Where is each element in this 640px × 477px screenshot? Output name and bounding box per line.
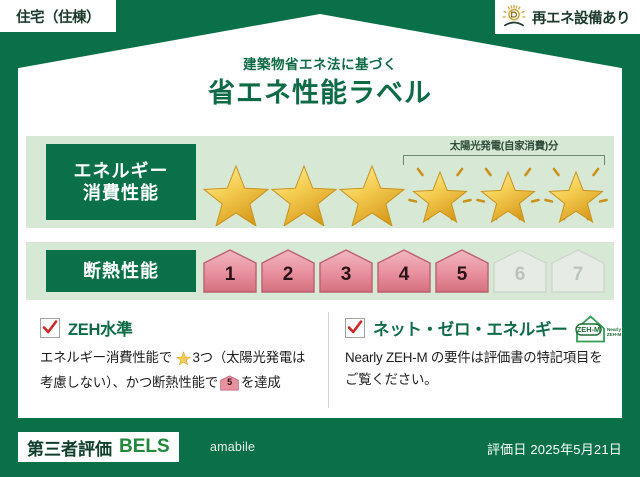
net-zero-energy-description: Nearly ZEH-M の要件は評価書の特記項目をご覧ください。	[345, 347, 604, 390]
net-zero-energy-title: ネット・ゼロ・エネルギー	[373, 316, 567, 340]
energy-star-plain	[202, 156, 270, 226]
energy-star-solar	[406, 156, 474, 226]
renewable-equipment-badge: 再エネ設備あり	[495, 0, 640, 34]
energy-star-solar	[542, 156, 610, 226]
energy-performance-label: 住宅（住棟） 再エネ設備あり	[0, 0, 640, 477]
insulation-level-badge: 4	[376, 248, 432, 294]
insulation-level-number: 1	[202, 265, 258, 284]
zeh-desc-part1: エネルギー消費性能で	[40, 350, 172, 365]
zeh-desc-part3: を達成	[241, 375, 281, 390]
page-title: 省エネ性能ラベル	[18, 80, 622, 107]
evaluation-date: 評価日 2025年5月21日	[487, 439, 622, 458]
insulation-label: 断熱性能	[83, 260, 159, 283]
zeh-section: ZEH水準 エネルギー消費性能で 3つ（太陽光発電は考慮しない）、かつ断熱性能で…	[26, 312, 614, 408]
bels-jp-label: 第三者評価	[27, 435, 112, 460]
insulation-performance-label-box: 断熱性能	[46, 250, 196, 292]
energy-rating-body: 太陽光発電(自家消費)分	[196, 136, 614, 228]
energy-star-rating	[202, 156, 610, 226]
zeh-standard-title: ZEH水準	[68, 316, 133, 340]
insulation-level-number: 2	[260, 265, 316, 284]
svg-text:ZEH-M: ZEH-M	[577, 325, 600, 334]
inline-insulation-badge-value: 5	[220, 378, 239, 387]
property-name: amabile	[210, 440, 255, 454]
net-zero-energy-checkbox[interactable]	[345, 318, 365, 338]
zeh-standard-block: ZEH水準 エネルギー消費性能で 3つ（太陽光発電は考慮しない）、かつ断熱性能で…	[26, 312, 328, 408]
building-type-label: 住宅（住棟）	[16, 6, 100, 27]
insulation-level-badge: 1	[202, 248, 258, 294]
insulation-rating-body: 1 2 3	[196, 242, 614, 300]
energy-performance-label-box: エネルギー 消費性能	[46, 144, 196, 220]
net-zero-energy-header: ネット・ゼロ・エネルギー ZEH-M Nearly ZEH-M	[345, 316, 604, 340]
insulation-level-badge: 7	[550, 248, 606, 294]
insulation-level-number: 6	[492, 265, 548, 284]
insulation-level-badge: 5	[434, 248, 490, 294]
sun-solar-icon	[501, 4, 527, 30]
inline-star-icon	[173, 353, 192, 368]
insulation-level-scale: 1 2 3	[202, 248, 606, 294]
insulation-level-number: 3	[318, 265, 374, 284]
zeh-standard-checkbox[interactable]	[40, 318, 60, 338]
insulation-level-badge: 2	[260, 248, 316, 294]
net-zero-energy-block: ネット・ゼロ・エネルギー ZEH-M Nearly ZEH-M Nearly Z…	[328, 312, 614, 408]
label-card: 建築物省エネ法に基づく 省エネ性能ラベル エネルギー 消費性能 太陽光発電(自家…	[18, 14, 622, 418]
zeh-m-logo-icon: ZEH-M Nearly ZEH-M	[573, 312, 625, 344]
insulation-level-number: 4	[376, 265, 432, 284]
bels-certification-badge: 第三者評価 BELS	[18, 432, 179, 462]
insulation-level-badge: 3	[318, 248, 374, 294]
footer-band: 第三者評価 BELS amabile 評価日 2025年5月21日	[0, 418, 640, 477]
solar-bracket-label: 太陽光発電(自家消費)分	[401, 138, 607, 153]
zeh-standard-header: ZEH水準	[40, 316, 318, 340]
energy-star-plain	[270, 156, 338, 226]
building-type-chip: 住宅（住棟）	[0, 0, 116, 32]
energy-performance-row: エネルギー 消費性能 太陽光発電(自家消費)分	[26, 136, 614, 228]
energy-star-solar	[474, 156, 542, 226]
title-block: 建築物省エネ法に基づく 省エネ性能ラベル	[18, 58, 622, 107]
zeh-standard-description: エネルギー消費性能で 3つ（太陽光発電は考慮しない）、かつ断熱性能で 5 を達成	[40, 347, 318, 393]
energy-label-line2: 消費性能	[83, 182, 159, 205]
insulation-level-badge: 6	[492, 248, 548, 294]
insulation-level-number: 7	[550, 265, 606, 284]
bels-en-label: BELS	[119, 436, 170, 458]
energy-label-line1: エネルギー	[74, 160, 169, 183]
insulation-level-number: 5	[434, 265, 490, 284]
energy-star-plain	[338, 156, 406, 226]
title-subtitle: 建築物省エネ法に基づく	[18, 58, 622, 72]
renewable-badge-label: 再エネ設備あり	[532, 7, 630, 28]
insulation-performance-row: 断熱性能 1	[26, 242, 614, 300]
zeh-m-logo-sub2: ZEH-M	[607, 332, 622, 337]
inline-insulation-badge-icon: 5	[220, 375, 239, 391]
